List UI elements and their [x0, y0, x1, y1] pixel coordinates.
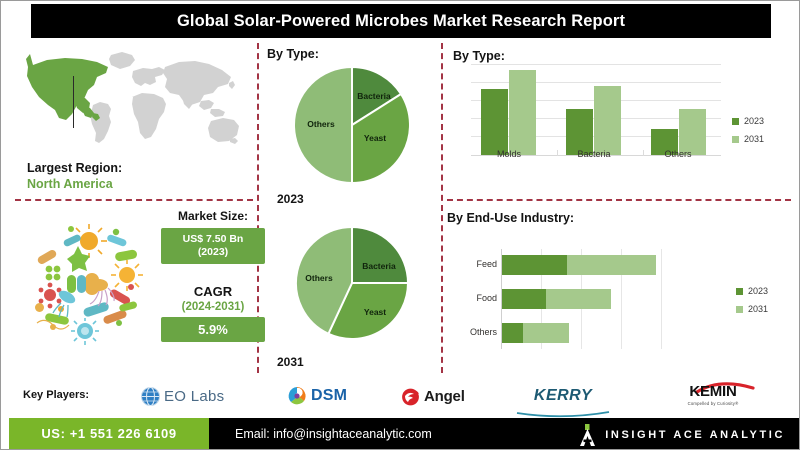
microbes-illustration	[23, 219, 155, 347]
cagr-label: CAGR	[161, 284, 265, 299]
gridline	[661, 249, 662, 349]
logo-angel[interactable]: Angel	[401, 387, 465, 406]
largest-region-value: North America	[27, 177, 237, 191]
legend-label-2031: 2031	[744, 134, 764, 144]
pie-year-2023: 2023	[277, 190, 304, 208]
legend-label-2023: 2023	[748, 286, 768, 296]
pie-slice-label-yeast: Yeast	[364, 133, 386, 143]
infographic-page: Global Solar-Powered Microbes Market Res…	[0, 0, 800, 450]
segment-food-2023	[502, 289, 546, 309]
legend-item-2023: 2023	[732, 116, 764, 126]
logo-kerry-text: KERRY	[513, 387, 613, 405]
pie-slice-label-others: Others	[307, 119, 335, 129]
legend-swatch-2031	[732, 136, 739, 143]
market-size-value: US$ 7.50 Bn	[163, 233, 263, 246]
category-label-others: Others	[437, 327, 497, 337]
bar-bacteria-2031	[594, 86, 621, 155]
pie-slice-label-others: Others	[305, 273, 333, 283]
largest-region-block: Largest Region: North America	[27, 161, 237, 191]
legend-swatch-2031	[736, 306, 743, 313]
legend-swatch-2023	[736, 288, 743, 295]
gridline	[471, 64, 721, 65]
phone-bar[interactable]: US: +1 551 226 6109	[9, 418, 209, 449]
divider-horizontal-left	[15, 199, 253, 201]
logo-kemin-text: KEMIN	[661, 383, 765, 400]
column-chart-categories: Molds Bacteria Others	[471, 149, 721, 165]
market-size-value-box: US$ 7.50 Bn (2023)	[161, 228, 265, 264]
segment-feed-2031	[567, 255, 656, 275]
column-chart	[471, 64, 721, 156]
category-label-bacteria: Bacteria	[559, 149, 629, 159]
kerry-swoosh-icon	[513, 411, 613, 418]
logo-kemin[interactable]: KEMIN Compelled by Curiosity®	[661, 383, 765, 406]
column-group-bacteria	[566, 86, 621, 155]
pie-section-label: By Type:	[267, 45, 319, 63]
category-label-food: Food	[437, 293, 497, 303]
largest-region-label: Largest Region:	[27, 161, 237, 175]
legend-item-2023: 2023	[736, 286, 768, 296]
pie-chart-2031: Bacteria Yeast Others	[283, 223, 427, 347]
logo-eo-labs[interactable]: EO Labs	[141, 387, 224, 406]
category-label-others: Others	[643, 149, 713, 159]
segment-others-2031	[523, 323, 569, 343]
stacked-chart-title: By End-Use Industry:	[447, 209, 574, 227]
report-title-bar: Global Solar-Powered Microbes Market Res…	[31, 4, 771, 38]
divider-vertical-right	[441, 43, 443, 373]
column-chart-legend: 2023 2031	[732, 116, 764, 144]
pie-slice-label-yeast: Yeast	[364, 307, 386, 317]
page-title: Global Solar-Powered Microbes Market Res…	[177, 12, 625, 31]
category-label-feed: Feed	[437, 259, 497, 269]
column-group-molds	[481, 70, 536, 155]
pie-chart-2023: Bacteria Yeast Others	[283, 63, 427, 187]
pie-slice-label-bacteria: Bacteria	[362, 261, 396, 271]
legend-item-2031: 2031	[732, 134, 764, 144]
legend-label-2023: 2023	[744, 116, 764, 126]
bar-molds-2023	[481, 89, 508, 155]
phone-number: US: +1 551 226 6109	[41, 426, 176, 441]
stacked-bar-chart: Feed Food Others	[501, 249, 731, 349]
dsm-mark-icon	[287, 386, 307, 406]
bar-molds-2031	[509, 70, 536, 155]
category-label-molds: Molds	[474, 149, 544, 159]
globe-icon	[141, 387, 160, 406]
segment-feed-2023	[502, 255, 567, 275]
stacked-row-food	[502, 289, 611, 309]
market-size-label: Market Size:	[161, 209, 265, 223]
segment-others-2023	[502, 323, 523, 343]
logo-kemin-tagline: Compelled by Curiosity®	[661, 401, 765, 406]
pie-slice-label-bacteria: Bacteria	[357, 91, 391, 101]
logo-eo-labs-text: EO Labs	[164, 388, 224, 405]
stacked-chart-legend: 2023 2031	[736, 286, 768, 314]
legend-item-2031: 2031	[736, 304, 768, 314]
logo-dsm[interactable]: DSM	[287, 386, 347, 406]
pie-year-2031: 2031	[277, 353, 304, 371]
map-pointer-line	[73, 76, 74, 128]
column-chart-title: By Type:	[453, 47, 505, 65]
stacked-row-feed	[502, 255, 656, 275]
insight-ace-logo-icon	[579, 424, 596, 446]
legend-swatch-2023	[732, 118, 739, 125]
brand-name: INSIGHT ACE ANALYTIC	[605, 429, 785, 441]
logo-angel-text: Angel	[424, 388, 465, 405]
cagr-value: 5.9%	[161, 317, 265, 342]
key-players-label: Key Players:	[23, 389, 89, 401]
brand-block: INSIGHT ACE ANALYTIC	[579, 424, 785, 446]
cagr-range: (2024-2031)	[161, 301, 265, 313]
market-size-year: (2023)	[163, 246, 263, 259]
segment-food-2031	[546, 289, 611, 309]
stacked-row-others	[502, 323, 569, 343]
legend-label-2031: 2031	[748, 304, 768, 314]
logo-dsm-text: DSM	[311, 387, 347, 405]
angel-mark-icon	[401, 387, 420, 406]
divider-horizontal-right	[447, 199, 791, 201]
market-size-block: Market Size: US$ 7.50 Bn (2023) CAGR (20…	[161, 209, 265, 342]
world-map	[15, 49, 250, 159]
email-address[interactable]: Email: info@insightaceanalytic.com	[235, 427, 432, 441]
